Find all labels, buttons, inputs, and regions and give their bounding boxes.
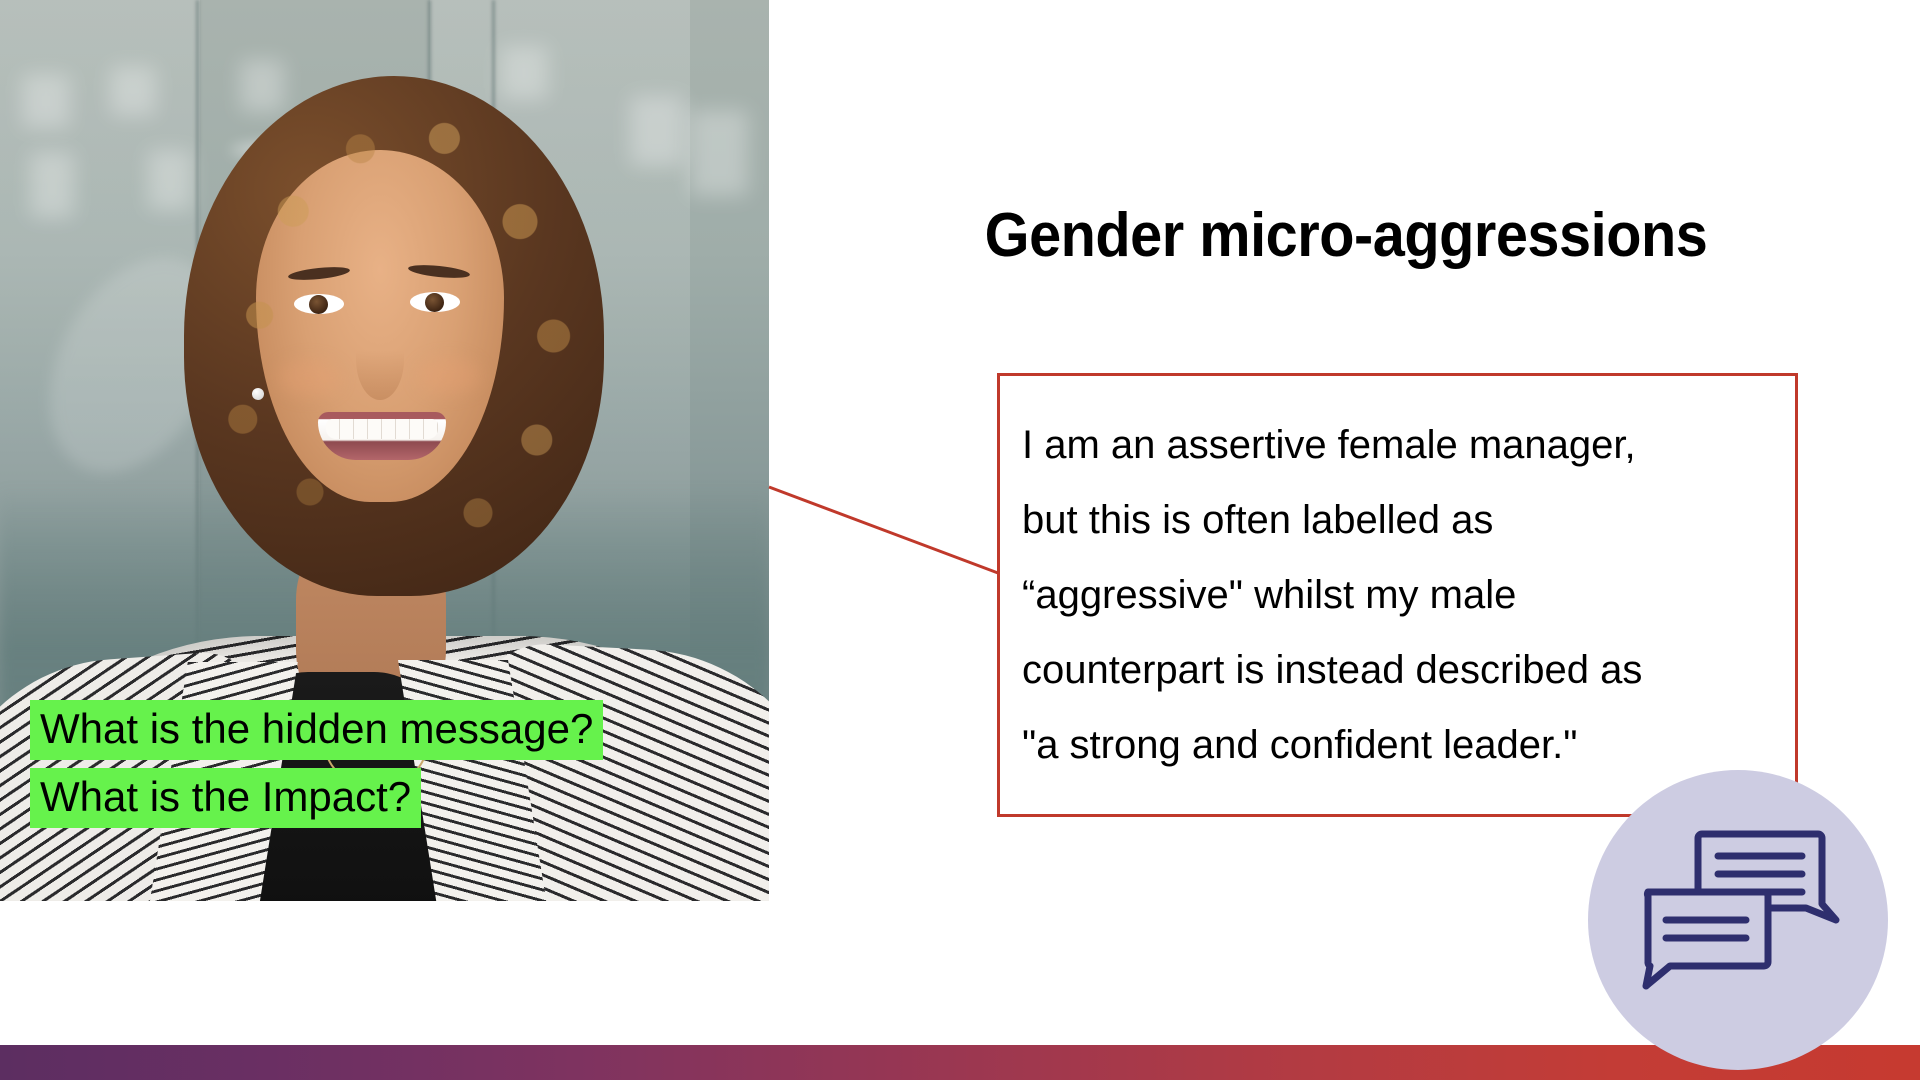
overlay-question-line-2: What is the Impact? (30, 768, 421, 828)
quote-line: but this is often labelled as (1022, 483, 1802, 558)
overlay-question-line-1: What is the hidden message? (30, 700, 603, 760)
chat-bubbles-icon (1640, 828, 1840, 1018)
quote-line: counterpart is instead described as (1022, 633, 1802, 708)
hair-curls (184, 76, 604, 596)
page-title: Gender micro-aggressions (900, 200, 1793, 271)
quote-line: "a strong and confident leader." (1022, 708, 1802, 783)
footer-gradient-bar (0, 1045, 1920, 1080)
quote-line: “aggressive" whilst my male (1022, 558, 1802, 633)
speaker-photo: What is the hidden message? What is the … (0, 0, 769, 901)
quote-line: I am an assertive female manager, (1022, 408, 1802, 483)
quote-text: I am an assertive female manager, but th… (1022, 408, 1802, 783)
person-figure (0, 0, 769, 901)
slide-canvas: What is the hidden message? What is the … (0, 0, 1920, 1080)
